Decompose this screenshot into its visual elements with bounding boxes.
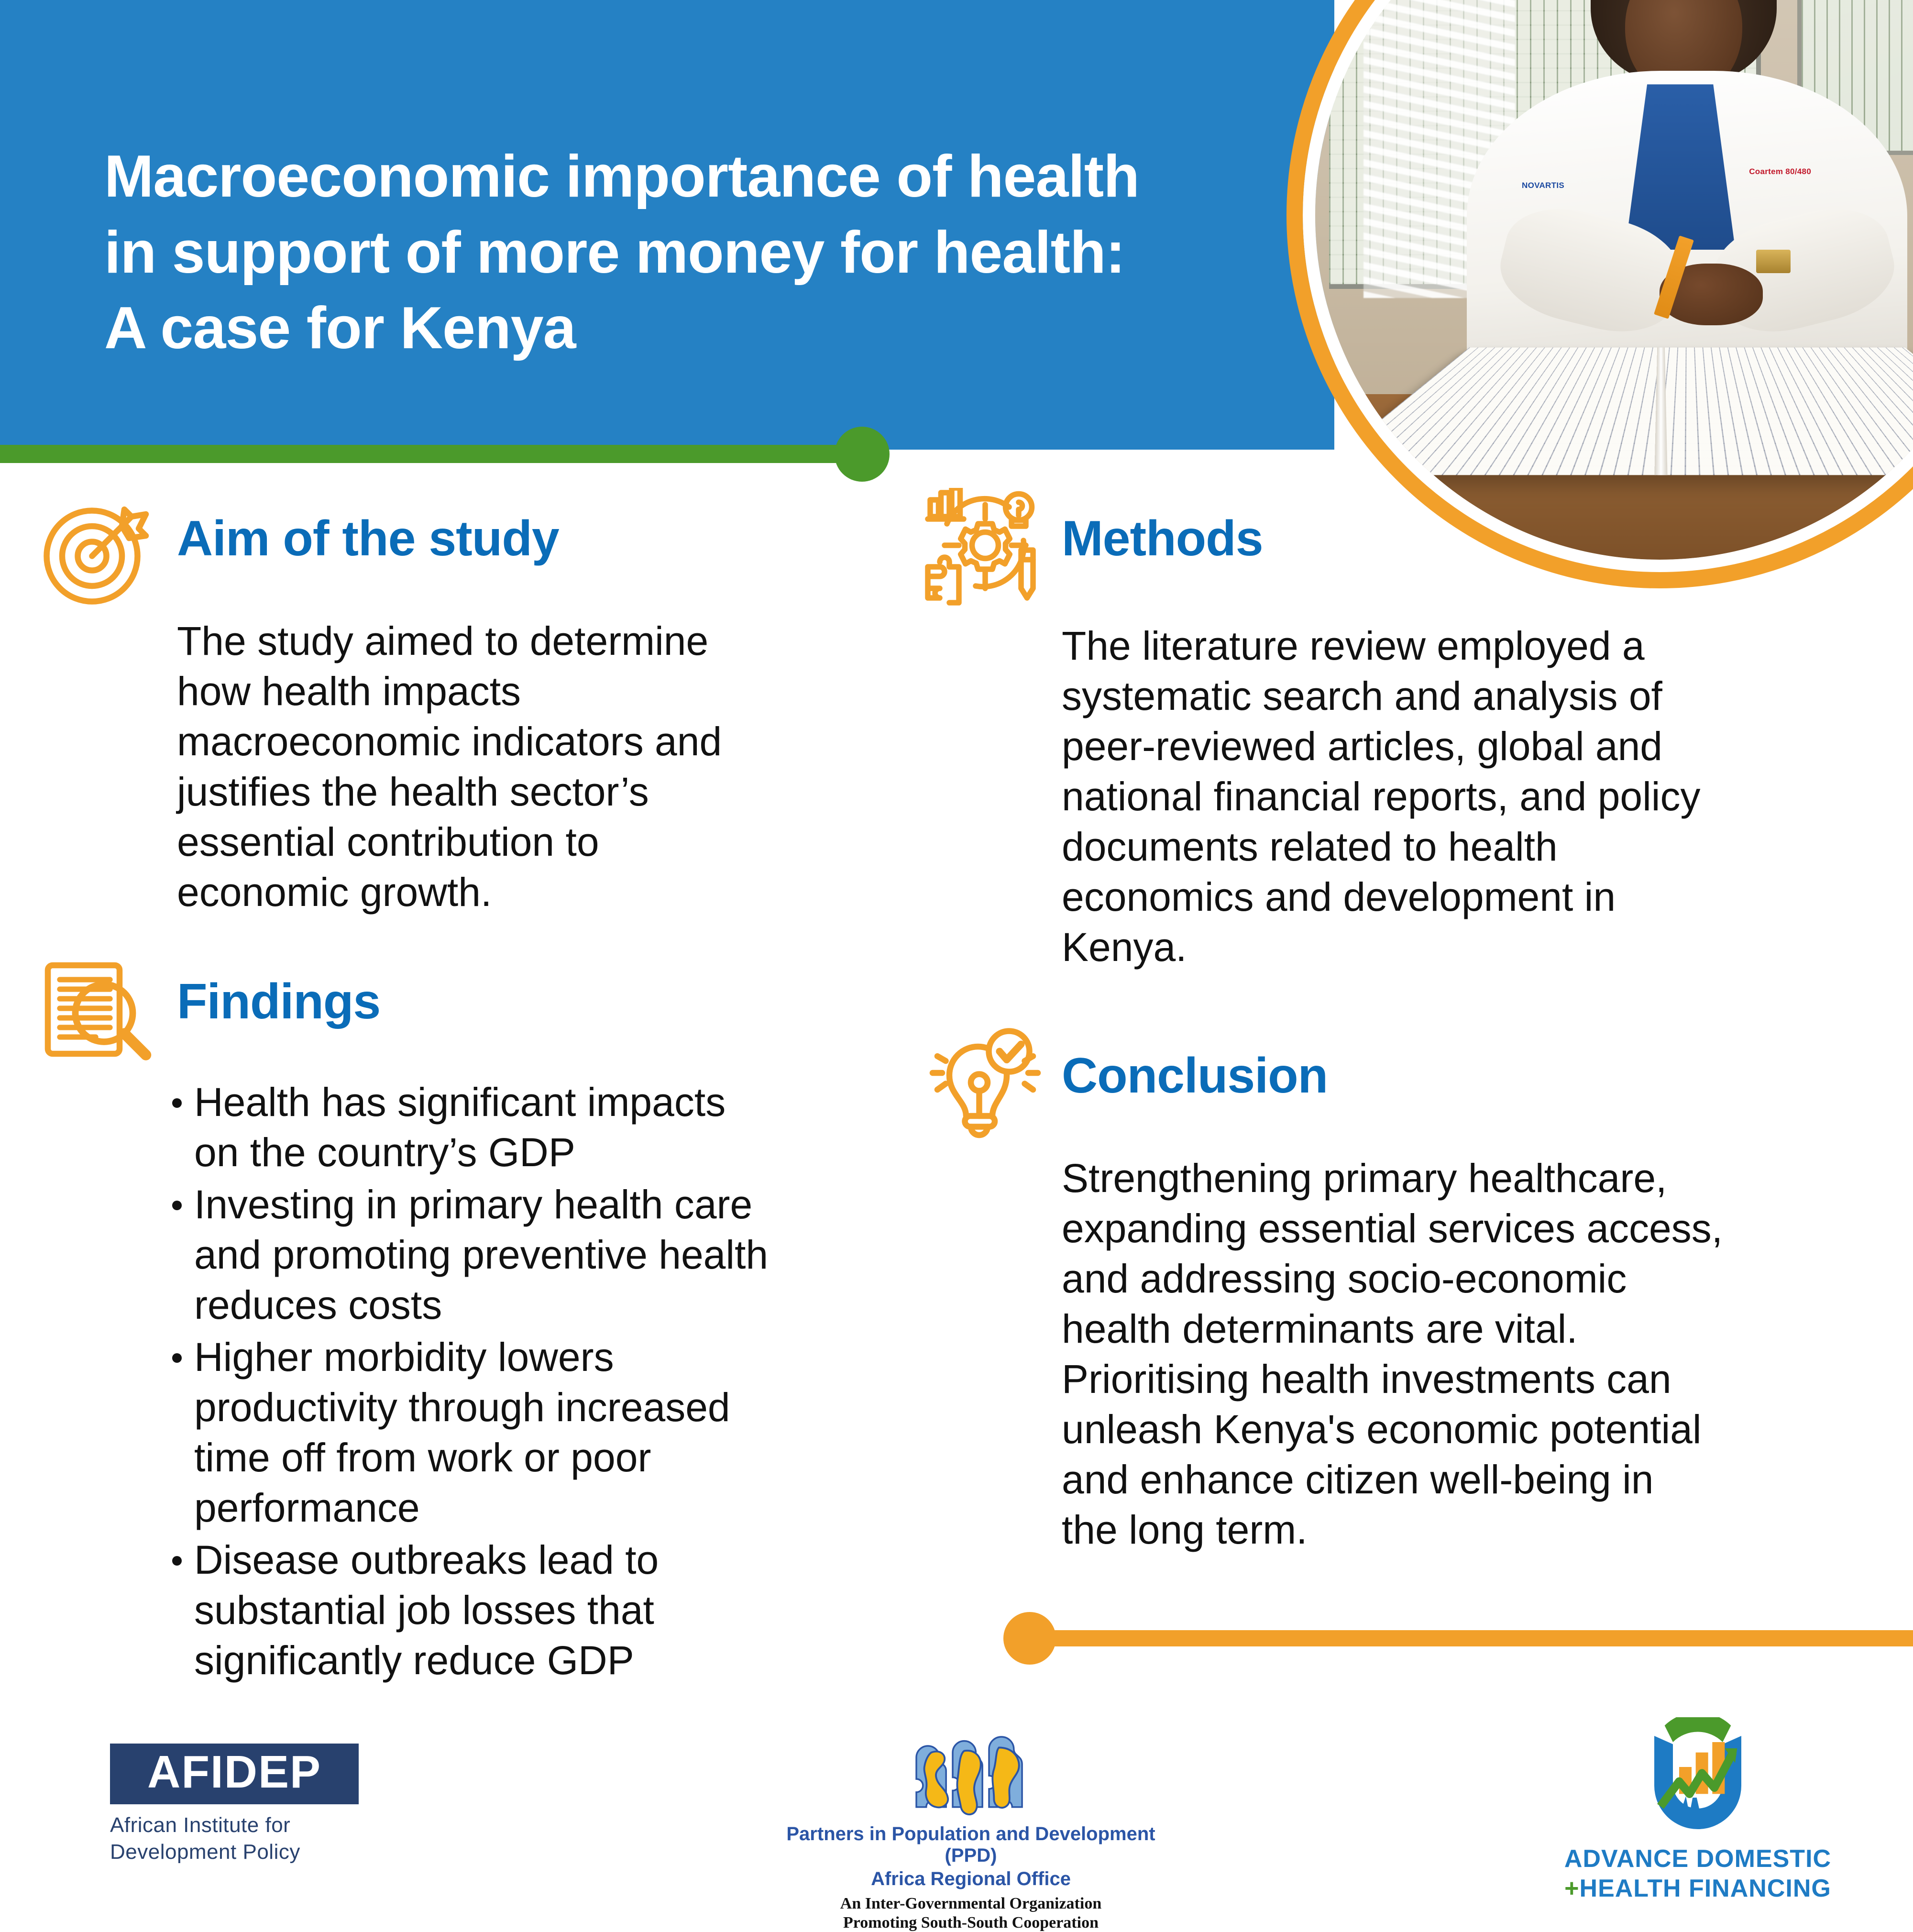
adhf-logo: ADVANCE DOMESTIC +HEALTH FINANCING — [1530, 1717, 1865, 1903]
conclusion-line-3: and addressing socio-economic — [1062, 1254, 1875, 1304]
conclusion-line-7: and enhance citizen well-being in — [1062, 1455, 1875, 1505]
section-conclusion-title: Conclusion — [1062, 1051, 1328, 1101]
methods-line-6: economics and development in — [1062, 872, 1875, 922]
section-conclusion-header: Conclusion — [923, 1025, 1875, 1145]
page-title-line-1: Macroeconomic importance of health — [104, 139, 1252, 215]
section-findings: Findings Health has significant impacts … — [38, 951, 880, 1686]
right-column: Methods The literature review employed a… — [923, 488, 1875, 1555]
ppd-line-2: Africa Regional Office — [775, 1868, 1167, 1890]
page-title: Macroeconomic importance of health in su… — [104, 139, 1252, 366]
section-methods: Methods The literature review employed a… — [923, 488, 1875, 972]
orange-divider-rule — [1028, 1630, 1913, 1646]
research-process-icon — [923, 488, 1043, 607]
orange-divider-dot — [1003, 1612, 1056, 1665]
findings-bullet-1: Health has significant impacts on the co… — [167, 1077, 880, 1178]
page-title-line-3: A case for Kenya — [104, 290, 1252, 366]
afidep-logo: AFIDEP African Institute for Development… — [110, 1744, 359, 1866]
conclusion-line-8: the long term. — [1062, 1505, 1875, 1555]
conclusion-line-1: Strengthening primary healthcare, — [1062, 1153, 1875, 1203]
conclusion-line-5: Prioritising health investments can — [1062, 1354, 1875, 1404]
adhf-line-1: ADVANCE DOMESTIC — [1530, 1844, 1865, 1873]
methods-line-1: The literature review employed a — [1062, 621, 1875, 671]
shield-growth-chart-icon — [1619, 1717, 1777, 1842]
aim-line-3: macroeconomic indicators and — [177, 717, 880, 767]
lightbulb-check-icon — [923, 1025, 1043, 1145]
aim-line-5: essential contribution to — [177, 817, 880, 867]
target-arrow-icon — [38, 488, 158, 607]
methods-line-4: national financial reports, and policy — [1062, 772, 1875, 822]
afidep-subtitle: African Institute for Development Policy — [110, 1812, 359, 1866]
findings-bullet-3: Higher morbidity lowers productivity thr… — [167, 1332, 880, 1533]
methods-line-2: systematic search and analysis of — [1062, 671, 1875, 721]
section-findings-header: Findings — [38, 951, 880, 1071]
findings-bullet-list: Health has significant impacts on the co… — [167, 1077, 880, 1686]
section-methods-header: Methods — [923, 488, 1875, 607]
ppd-line-1: Partners in Population and Development (… — [775, 1823, 1167, 1866]
aim-line-4: justifies the health sector’s — [177, 767, 880, 817]
ppd-line-4: Promoting South-South Cooperation — [775, 1914, 1167, 1932]
footer-logos: AFIDEP African Institute for Development… — [0, 1722, 1913, 1913]
three-people-globe-icon — [885, 1728, 1057, 1819]
aim-line-2: how health impacts — [177, 666, 880, 717]
findings-bullet-2: Investing in primary health care and pro… — [167, 1180, 880, 1330]
section-aim-header: Aim of the study — [38, 488, 880, 607]
green-divider-dot — [835, 427, 890, 482]
section-aim-body: The study aimed to determine how health … — [177, 616, 880, 917]
section-methods-body: The literature review employed a systema… — [1062, 621, 1875, 972]
document-magnifier-icon — [38, 951, 158, 1071]
aim-line-1: The study aimed to determine — [177, 616, 880, 666]
afidep-subtitle-line-2: Development Policy — [110, 1839, 359, 1866]
section-methods-title: Methods — [1062, 514, 1263, 563]
conclusion-line-4: health determinants are vital. — [1062, 1304, 1875, 1354]
conclusion-line-6: unleash Kenya's economic potential — [1062, 1404, 1875, 1455]
page-title-line-2: in support of more money for health: — [104, 215, 1252, 291]
green-divider-rule — [0, 445, 856, 463]
section-findings-title: Findings — [177, 977, 380, 1027]
methods-line-7: Kenya. — [1062, 922, 1875, 972]
left-column: Aim of the study The study aimed to dete… — [38, 488, 880, 1688]
findings-bullet-4: Disease outbreaks lead to substantial jo… — [167, 1535, 880, 1686]
section-conclusion: Conclusion Strengthening primary healthc… — [923, 1025, 1875, 1555]
ppd-logo: Partners in Population and Development (… — [775, 1728, 1167, 1932]
section-conclusion-body: Strengthening primary healthcare, expand… — [1062, 1153, 1875, 1555]
methods-line-5: documents related to health — [1062, 822, 1875, 872]
afidep-subtitle-line-1: African Institute for — [110, 1812, 359, 1839]
content-sections: Aim of the study The study aimed to dete… — [0, 488, 1913, 1708]
aim-line-6: economic growth. — [177, 867, 880, 917]
adhf-plus-glyph: + — [1564, 1875, 1579, 1902]
conclusion-line-2: expanding essential services access, — [1062, 1203, 1875, 1254]
ppd-line-3: An Inter-Governmental Organization — [775, 1895, 1167, 1913]
adhf-line-2: +HEALTH FINANCING — [1530, 1874, 1865, 1903]
afidep-wordmark: AFIDEP — [110, 1744, 359, 1804]
section-aim-title: Aim of the study — [177, 514, 559, 563]
methods-line-3: peer-reviewed articles, global and — [1062, 721, 1875, 772]
section-aim-of-the-study: Aim of the study The study aimed to dete… — [38, 488, 880, 917]
